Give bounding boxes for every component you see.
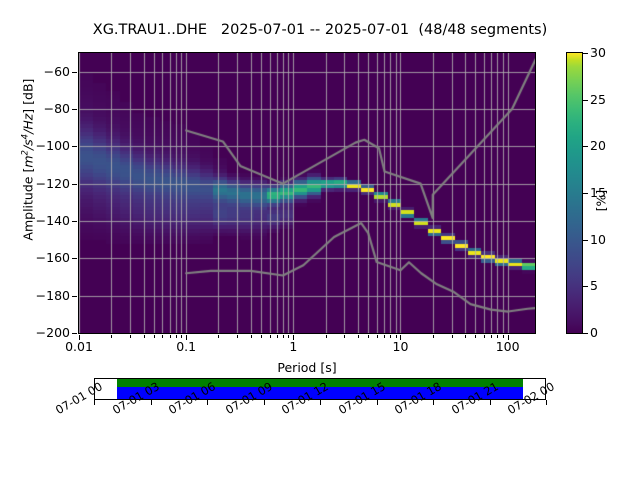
x-minor-tick-mark bbox=[251, 335, 252, 338]
y-tick-label: −120 bbox=[0, 178, 70, 190]
x-minor-tick-mark bbox=[326, 335, 327, 338]
x-minor-tick-mark bbox=[176, 335, 177, 338]
y-tick-mark bbox=[72, 333, 77, 334]
x-minor-tick-mark bbox=[384, 335, 385, 338]
x-tick-label: 1 bbox=[289, 340, 297, 353]
y-tick-mark bbox=[72, 184, 77, 185]
colorbar-tick-mark bbox=[583, 53, 588, 54]
timeline-tick-mark bbox=[151, 400, 152, 405]
colorbar bbox=[566, 52, 583, 334]
x-minor-tick-mark bbox=[270, 335, 271, 338]
colorbar-tick-mark bbox=[583, 146, 588, 147]
x-minor-tick-mark bbox=[358, 335, 359, 338]
colorbar-tick-label: 5 bbox=[590, 280, 598, 292]
x-minor-tick-mark bbox=[181, 335, 182, 338]
x-minor-tick-mark bbox=[111, 335, 112, 338]
x-tick-label: 10 bbox=[393, 340, 409, 353]
colorbar-tick-mark bbox=[583, 193, 588, 194]
x-minor-tick-mark bbox=[237, 335, 238, 338]
x-minor-tick-mark bbox=[130, 335, 131, 338]
y-tick-label: −140 bbox=[0, 215, 70, 227]
colorbar-label: [%] bbox=[594, 151, 609, 251]
x-minor-tick-mark bbox=[162, 335, 163, 338]
x-minor-tick-mark bbox=[396, 335, 397, 338]
x-tick-label: 0.01 bbox=[65, 340, 93, 353]
x-minor-tick-mark bbox=[503, 335, 504, 338]
y-tick-label: −80 bbox=[0, 103, 70, 115]
x-minor-tick-mark bbox=[261, 335, 262, 338]
colorbar-tick-mark bbox=[583, 286, 588, 287]
x-minor-tick-mark bbox=[154, 335, 155, 338]
timeline-tick-mark bbox=[94, 400, 95, 405]
x-tick-label: 0.1 bbox=[176, 340, 196, 353]
y-tick-label: −160 bbox=[0, 252, 70, 264]
x-minor-tick-mark bbox=[377, 335, 378, 338]
page-title: XG.TRAU1..DHE 2025-07-01 -- 2025-07-01 (… bbox=[0, 22, 640, 38]
y-tick-mark bbox=[72, 296, 77, 297]
x-minor-tick-mark bbox=[497, 335, 498, 338]
x-minor-tick-mark bbox=[283, 335, 284, 338]
x-minor-tick-mark bbox=[368, 335, 369, 338]
x-axis-label: Period [s] bbox=[78, 360, 536, 375]
x-minor-tick-mark bbox=[170, 335, 171, 338]
y-axis-label: Amplitude [m2/s4/Hz] [dB] bbox=[20, 10, 35, 310]
x-minor-tick-mark bbox=[452, 335, 453, 338]
timeline-tick-mark bbox=[264, 400, 265, 405]
y-tick-mark bbox=[72, 109, 77, 110]
ylabel-unit-mid-exp: 4 bbox=[20, 134, 30, 139]
x-tick-label: 100 bbox=[496, 340, 520, 353]
x-tick-mark bbox=[79, 335, 80, 340]
colorbar-tick-label: 25 bbox=[590, 94, 606, 106]
x-minor-tick-mark bbox=[390, 335, 391, 338]
x-minor-tick-mark bbox=[218, 335, 219, 338]
ylabel-unit-num: m bbox=[21, 155, 36, 167]
colorbar-tick-mark bbox=[583, 240, 588, 241]
colorbar-tick-label: 0 bbox=[590, 327, 598, 339]
ppsd-plot-area bbox=[78, 52, 536, 334]
ppsd-figure: XG.TRAU1..DHE 2025-07-01 -- 2025-07-01 (… bbox=[0, 0, 640, 480]
y-tick-mark bbox=[72, 258, 77, 259]
colorbar-tick-mark bbox=[583, 100, 588, 101]
y-tick-mark bbox=[72, 72, 77, 73]
ylabel-unit-end: /Hz bbox=[21, 114, 36, 134]
timeline-tick-mark bbox=[433, 400, 434, 405]
x-minor-tick-mark bbox=[144, 335, 145, 338]
y-tick-label: −200 bbox=[0, 327, 70, 339]
x-minor-tick-mark bbox=[465, 335, 466, 338]
x-tick-mark bbox=[400, 335, 401, 340]
x-minor-tick-mark bbox=[288, 335, 289, 338]
x-minor-tick-mark bbox=[491, 335, 492, 338]
colorbar-tick-mark bbox=[583, 333, 588, 334]
y-tick-label: −180 bbox=[0, 290, 70, 302]
timeline-tick-mark bbox=[207, 400, 208, 405]
y-tick-mark bbox=[72, 146, 77, 147]
x-minor-tick-mark bbox=[344, 335, 345, 338]
timeline-tick-mark bbox=[377, 400, 378, 405]
x-minor-tick-mark bbox=[484, 335, 485, 338]
timeline-tick-mark bbox=[490, 400, 491, 405]
x-minor-tick-mark bbox=[433, 335, 434, 338]
y-tick-label: −100 bbox=[0, 140, 70, 152]
x-tick-mark bbox=[508, 335, 509, 340]
x-minor-tick-mark bbox=[277, 335, 278, 338]
y-tick-mark bbox=[72, 221, 77, 222]
timeline-tick-mark bbox=[546, 400, 547, 405]
x-minor-tick-mark bbox=[475, 335, 476, 338]
noise-model-overlay bbox=[79, 53, 535, 333]
colorbar-tick-label: 30 bbox=[590, 47, 606, 59]
x-tick-mark bbox=[186, 335, 187, 340]
y-tick-label: −60 bbox=[0, 66, 70, 78]
x-tick-mark bbox=[293, 335, 294, 340]
timeline-tick-mark bbox=[320, 400, 321, 405]
